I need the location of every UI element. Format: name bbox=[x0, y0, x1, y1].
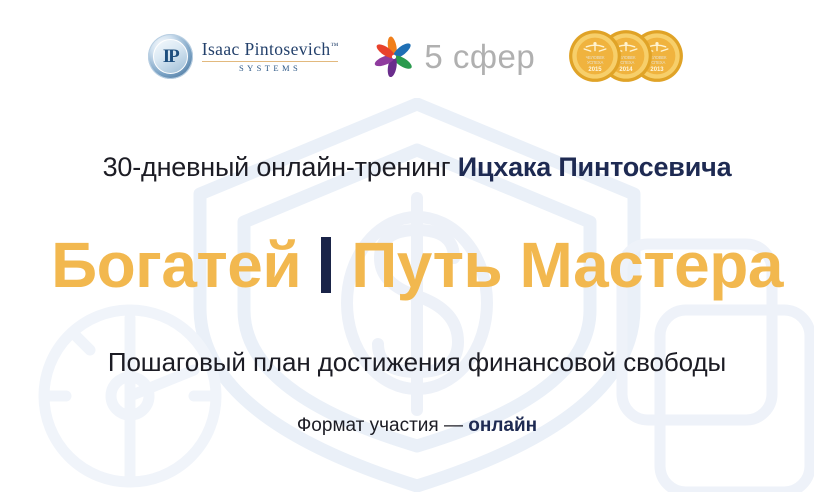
headline-author-name: Ицхака Пинтосевича bbox=[458, 152, 732, 182]
wordmark-divider bbox=[202, 61, 339, 62]
isaac-pintosevich-subtitle: SYSTEMS bbox=[202, 64, 339, 73]
title-right: Путь Мастера bbox=[351, 233, 783, 297]
award-medal-icon: ЧЕЛОВЕК УСПЕХА 2015 bbox=[568, 29, 622, 83]
format-prefix: Формат участия — bbox=[297, 415, 468, 436]
format-value: онлайн bbox=[468, 415, 537, 436]
headline: 30-дневный онлайн-тренинг Ицхака Пинтосе… bbox=[0, 152, 834, 183]
format-line: Формат участия — онлайн bbox=[0, 415, 834, 437]
page-title: Богатей Путь Мастера bbox=[0, 233, 834, 297]
svg-text:УСПЕХА: УСПЕХА bbox=[587, 60, 604, 65]
five-spheres-logo[interactable]: 5 сфер bbox=[373, 35, 535, 77]
ip-monogram-seal-icon: IP bbox=[148, 34, 193, 79]
promo-slide: IP Isaac Pintosevich™ SYSTEMS bbox=[0, 0, 834, 492]
isaac-pintosevich-name: Isaac Pintosevich™ bbox=[202, 40, 339, 60]
title-left: Богатей bbox=[51, 233, 301, 297]
isaac-pintosevich-logo[interactable]: IP Isaac Pintosevich™ SYSTEMS bbox=[148, 34, 339, 79]
svg-text:ЧЕЛОВЕК: ЧЕЛОВЕК bbox=[586, 55, 605, 60]
ip-monogram-text: IP bbox=[163, 47, 178, 66]
svg-text:2015: 2015 bbox=[589, 67, 603, 73]
five-spheres-wordmark: 5 сфер bbox=[424, 40, 535, 73]
trademark-symbol: ™ bbox=[331, 41, 339, 50]
award-medals-group[interactable]: ЧЕЛОВЕК УСПЕХА 2013 ЧЕЛОВЕК УСПЕХА 2014 bbox=[568, 27, 686, 85]
isaac-pintosevich-name-text: Isaac Pintosevich bbox=[202, 39, 331, 59]
slide-content: 30-дневный онлайн-тренинг Ицхака Пинтосе… bbox=[0, 152, 834, 437]
subtitle: Пошаговый план достижения финансовой сво… bbox=[0, 347, 834, 378]
isaac-pintosevich-wordmark: Isaac Pintosevich™ SYSTEMS bbox=[202, 40, 339, 72]
logo-bar: IP Isaac Pintosevich™ SYSTEMS bbox=[0, 0, 834, 104]
headline-prefix: 30-дневный онлайн-тренинг bbox=[103, 152, 458, 182]
five-petal-flower-icon bbox=[373, 35, 415, 77]
title-separator-bar bbox=[321, 237, 331, 293]
